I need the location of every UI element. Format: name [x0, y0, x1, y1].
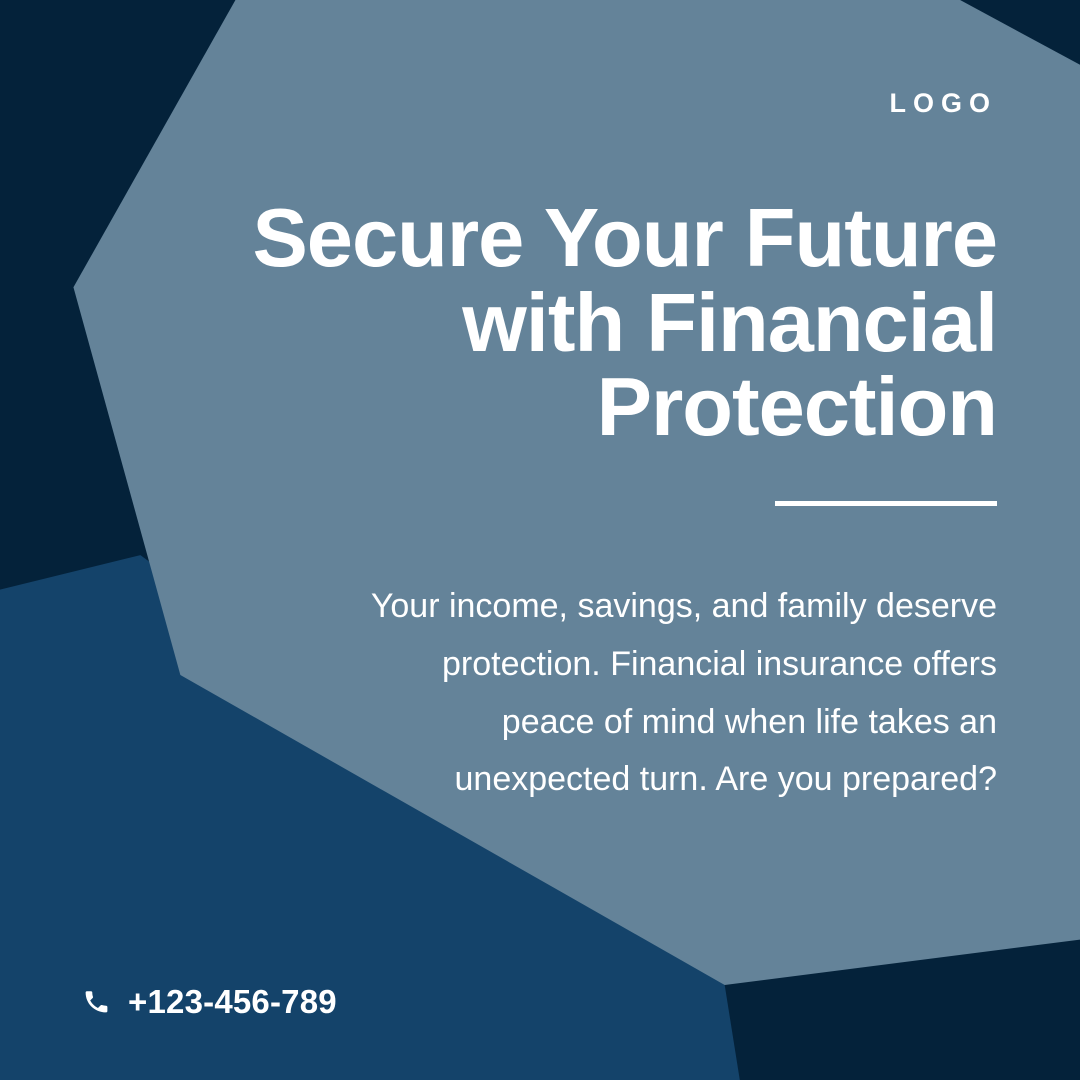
contact-info[interactable]: +123-456-789 [82, 985, 337, 1018]
logo-text: LOGO [890, 90, 998, 117]
phone-icon [82, 987, 111, 1016]
poster-content: LOGO Secure Your Future with Financial P… [0, 0, 1080, 1080]
phone-number-text: +123-456-789 [128, 985, 337, 1018]
poster-canvas: LOGO Secure Your Future with Financial P… [0, 0, 1080, 1080]
body-paragraph: Your income, savings, and family deserve… [357, 578, 997, 809]
title-divider [775, 501, 997, 506]
page-title: Secure Your Future with Financial Protec… [177, 196, 997, 450]
